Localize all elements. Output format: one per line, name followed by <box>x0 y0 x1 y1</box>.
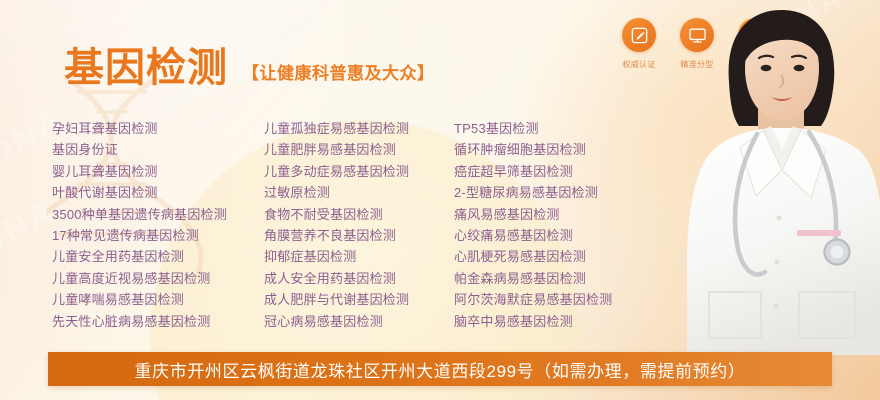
list-item[interactable]: 儿童多动症易感基因检测 <box>264 161 454 182</box>
list-item[interactable]: 叶酸代谢基因检测 <box>52 182 264 203</box>
badge-group: 权威认证 精准分型 轻松自检 <box>620 18 774 70</box>
list-item[interactable]: 儿童哮喘易感基因检测 <box>52 289 264 310</box>
badge-precise-typing[interactable]: 精准分型 <box>678 18 716 70</box>
list-item[interactable]: 成人肥胖与代谢基因检测 <box>264 289 454 310</box>
list-item[interactable]: 循环肿瘤细胞基因检测 <box>454 139 684 160</box>
address-banner: 重庆市开州区云枫街道龙珠社区开州大道西段299号（如需办理，需提前预约） <box>48 352 832 386</box>
poster-root: DNA DNA DNA 基因检测 【让健康科普惠及大众】 <box>0 0 880 400</box>
list-item[interactable]: 心绞痛易感基因检测 <box>454 225 684 246</box>
list-item[interactable]: 脑卒中易感基因检测 <box>454 311 684 332</box>
list-item[interactable]: 17种常见遗传病基因检测 <box>52 225 264 246</box>
list-item[interactable]: TP53基因检测 <box>454 118 684 139</box>
list-item[interactable]: 先天性心脏病易感基因检测 <box>52 311 264 332</box>
badge-caption: 轻松自检 <box>738 59 771 70</box>
service-list: 孕妇耳聋基因检测 基因身份证 婴儿耳聋基因检测 叶酸代谢基因检测 3500种单基… <box>52 118 684 332</box>
list-item[interactable]: 心肌梗死易感基因检测 <box>454 246 684 267</box>
badge-authority-certification[interactable]: 权威认证 <box>620 18 658 70</box>
document-icon <box>738 18 772 52</box>
service-column-3: TP53基因检测 循环肿瘤细胞基因检测 癌症超早筛基因检测 2-型糖尿病易感基因… <box>454 118 684 332</box>
list-item[interactable]: 孕妇耳聋基因检测 <box>52 118 264 139</box>
address-text: 重庆市开州区云枫街道龙珠社区开州大道西段299号（如需办理，需提前预约） <box>135 357 746 382</box>
page-title: 基因检测 <box>64 48 228 88</box>
list-item[interactable]: 食物不耐受基因检测 <box>264 204 454 225</box>
list-item[interactable]: 过敏原检测 <box>264 182 454 203</box>
list-item[interactable]: 角膜营养不良基因检测 <box>264 225 454 246</box>
edit-certificate-icon <box>622 18 656 52</box>
list-item[interactable]: 3500种单基因遗传病基因检测 <box>52 204 264 225</box>
badge-caption: 精准分型 <box>680 59 713 70</box>
list-item[interactable]: 儿童安全用药基因检测 <box>52 246 264 267</box>
dna-watermark-right: DNA <box>768 0 849 45</box>
list-item[interactable]: 成人安全用药基因检测 <box>264 268 454 289</box>
service-column-1: 孕妇耳聋基因检测 基因身份证 婴儿耳聋基因检测 叶酸代谢基因检测 3500种单基… <box>52 118 264 332</box>
badge-easy-self-check[interactable]: 轻松自检 <box>736 18 774 70</box>
headline: 基因检测 【让健康科普惠及大众】 <box>64 48 435 88</box>
list-item[interactable]: 冠心病易感基因检测 <box>264 311 454 332</box>
list-item[interactable]: 婴儿耳聋基因检测 <box>52 161 264 182</box>
list-item[interactable]: 癌症超早筛基因检测 <box>454 161 684 182</box>
list-item[interactable]: 2-型糖尿病易感基因检测 <box>454 182 684 203</box>
list-item[interactable]: 阿尔茨海默症易感基因检测 <box>454 289 684 310</box>
list-item[interactable]: 基因身份证 <box>52 139 264 160</box>
list-item[interactable]: 抑郁症基因检测 <box>264 246 454 267</box>
list-item[interactable]: 儿童肥胖易感基因检测 <box>264 139 454 160</box>
page-subtitle: 【让健康科普惠及大众】 <box>242 59 435 88</box>
list-item[interactable]: 儿童高度近视易感基因检测 <box>52 268 264 289</box>
list-item[interactable]: 帕金森病易感基因检测 <box>454 268 684 289</box>
badge-caption: 权威认证 <box>622 59 655 70</box>
service-column-2: 儿童孤独症易感基因检测 儿童肥胖易感基因检测 儿童多动症易感基因检测 过敏原检测… <box>264 118 454 332</box>
list-item[interactable]: 儿童孤独症易感基因检测 <box>264 118 454 139</box>
monitor-icon <box>680 18 714 52</box>
list-item[interactable]: 痛风易感基因检测 <box>454 204 684 225</box>
